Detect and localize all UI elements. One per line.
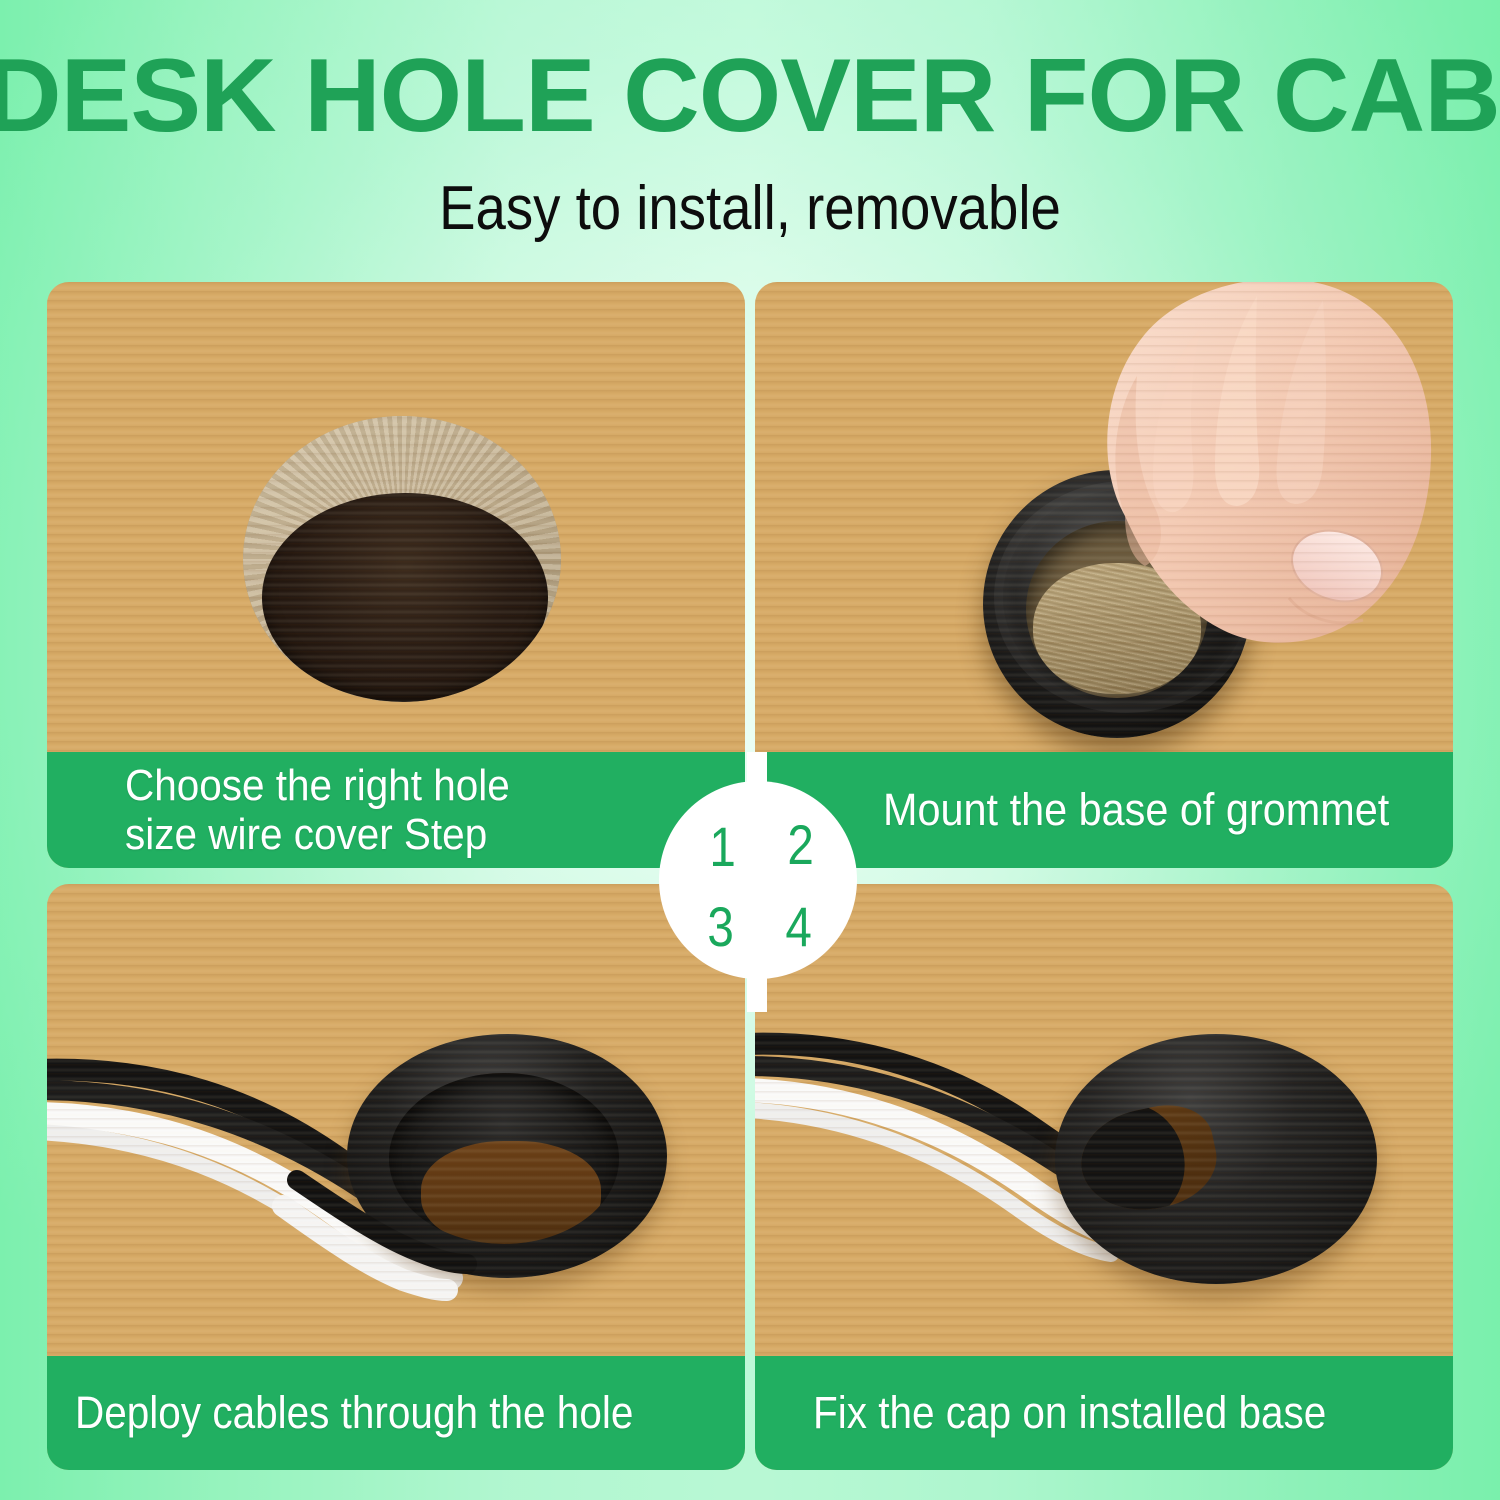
- step-3-caption-bar: Deploy cables through the hole: [47, 1356, 745, 1470]
- step-2-caption-bar: Mount the base of grommet: [755, 752, 1453, 868]
- step-card-4[interactable]: Fix the cap on installed base: [755, 884, 1453, 1470]
- step-4-photo: [755, 884, 1453, 1356]
- step-card-2[interactable]: Mount the base of grommet: [755, 282, 1453, 868]
- page-title: DESK HOLE COVER FOR CABLES: [0, 44, 1500, 148]
- step-number-4: 4: [785, 899, 811, 955]
- step-3-photo: [47, 884, 745, 1356]
- grommet-lip: [994, 481, 1259, 713]
- step-1-caption-text: Choose the right hole size wire cover St…: [125, 761, 510, 860]
- step-number-1: 1: [709, 819, 735, 875]
- grommet-base-icon: [983, 470, 1251, 738]
- step-card-3[interactable]: Deploy cables through the hole: [47, 884, 745, 1470]
- grommet-cap-icon: [1055, 1034, 1377, 1284]
- step-number-3: 3: [707, 899, 733, 955]
- step-2-photo: [755, 282, 1453, 752]
- step-4-caption-bar: Fix the cap on installed base: [755, 1356, 1453, 1470]
- step-card-1[interactable]: Choose the right hole size wire cover St…: [47, 282, 745, 868]
- installed-grommet-base-icon: [347, 1034, 667, 1278]
- base-bore: [389, 1073, 619, 1244]
- step-1-caption-bar: Choose the right hole size wire cover St…: [47, 752, 745, 868]
- hole-shadow: [243, 416, 561, 702]
- step-4-caption-text: Fix the cap on installed base: [813, 1388, 1326, 1438]
- step-number-hub: 1 2 3 4: [659, 781, 857, 979]
- step-1-photo: [47, 282, 745, 752]
- step-2-caption-text: Mount the base of grommet: [883, 785, 1389, 835]
- step-3-caption-text: Deploy cables through the hole: [75, 1388, 633, 1438]
- bore-interior: [421, 1141, 601, 1243]
- step-number-2: 2: [787, 817, 813, 873]
- desk-hole-icon: [243, 416, 561, 702]
- page-subtitle: Easy to install, removable: [90, 178, 1410, 240]
